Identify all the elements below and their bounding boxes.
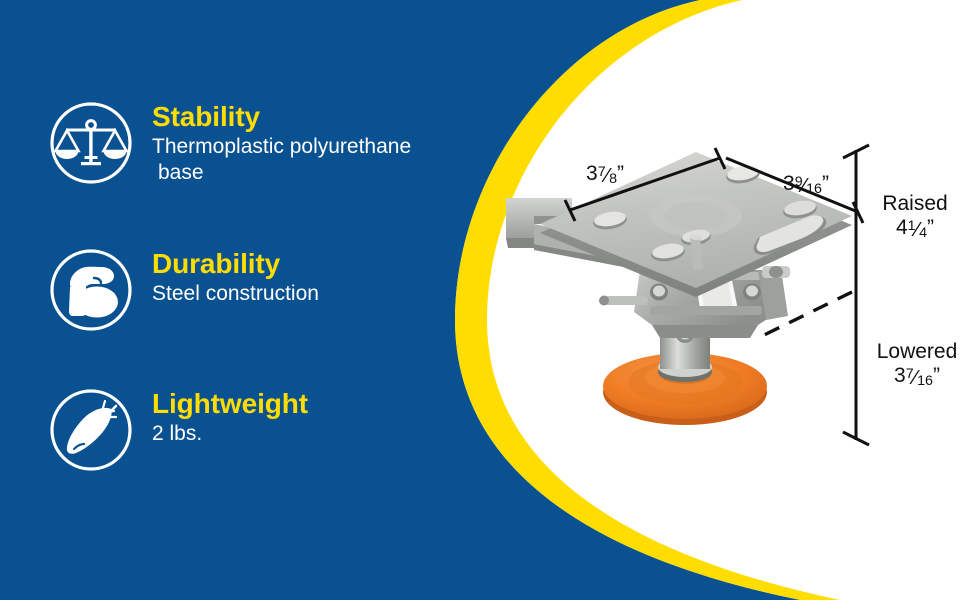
feature-item-lightweight: Lightweight 2 lbs. bbox=[48, 387, 308, 473]
feature-description-line1: 2 lbs. bbox=[152, 422, 202, 445]
flexed-bicep-icon bbox=[48, 247, 134, 333]
feature-description-line2: base bbox=[152, 160, 411, 186]
feature-text-lightweight: Lightweight 2 lbs. bbox=[152, 387, 308, 447]
infographic-canvas: Stability Thermoplastic polyurethane bas… bbox=[0, 0, 970, 600]
feature-text-stability: Stability Thermoplastic polyurethane bas… bbox=[152, 100, 411, 186]
mounting-plate bbox=[540, 152, 852, 297]
feature-description-line1: Thermoplastic polyurethane bbox=[152, 135, 411, 158]
feature-description: Steel construction bbox=[152, 281, 319, 307]
feature-title: Stability bbox=[152, 102, 411, 131]
feature-description-line1: Steel construction bbox=[152, 282, 319, 305]
feature-text-durability: Durability Steel construction bbox=[152, 247, 319, 307]
feature-item-stability: Stability Thermoplastic polyurethane bas… bbox=[48, 100, 411, 186]
product-image bbox=[500, 120, 920, 480]
feature-title: Lightweight bbox=[152, 389, 308, 418]
floor-lock-caster-illustration bbox=[500, 120, 920, 480]
feature-list: Stability Thermoplastic polyurethane bas… bbox=[0, 0, 520, 600]
feather-icon bbox=[48, 387, 134, 473]
feature-description: 2 lbs. bbox=[152, 421, 308, 447]
feature-title: Durability bbox=[152, 249, 319, 278]
feature-item-durability: Durability Steel construction bbox=[48, 247, 319, 333]
balance-scale-icon bbox=[48, 100, 134, 186]
feature-description: Thermoplastic polyurethane base bbox=[152, 134, 411, 185]
